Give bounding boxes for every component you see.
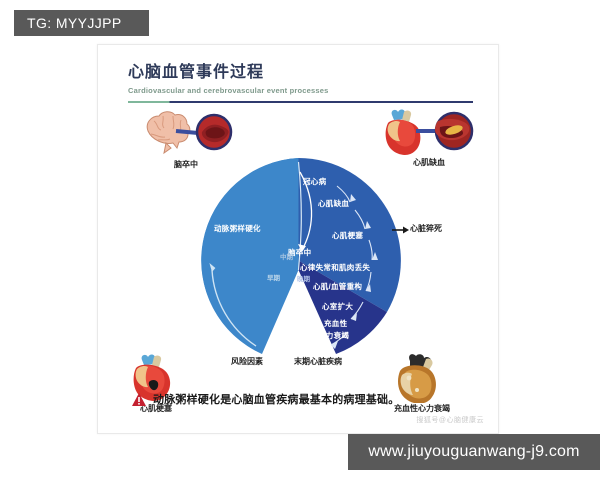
wheel-label-ischemia: 心肌缺血	[318, 198, 349, 209]
infographic-card: 心脑血管事件过程 Cardiovascular and cerebrovascu…	[97, 44, 499, 434]
organ-heart-failure: 充血性心力衰竭	[386, 351, 490, 415]
wheel-label-arrhythmia: 心律失常和肌肉丢失	[300, 262, 370, 273]
event-process-wheel: 动脉粥样硬化 冠心病 心肌缺血 心肌梗塞 脑卒中 心律失常和肌肉丢失 心肌/血管…	[196, 158, 401, 363]
card-heading: 心脑血管事件过程 Cardiovascular and cerebrovascu…	[128, 63, 473, 103]
outer-label-risk-factors: 风险因素	[231, 356, 263, 367]
page-subtitle: Cardiovascular and cerebrovascular event…	[128, 86, 473, 95]
wheel-label-atherosclerosis: 动脉粥样硬化	[214, 223, 261, 234]
tg-watermark-badge: TG: MYYJJPP	[14, 10, 149, 36]
url-watermark-badge: www.jiuyouguanwang-j9.com	[348, 434, 600, 470]
stage-label-late: 晚期	[297, 277, 309, 284]
heart-artery-icon	[376, 107, 482, 159]
wheel-label-chd: 冠心病	[303, 176, 326, 187]
outer-label-end-stage: 末期心脏疾病	[294, 356, 342, 367]
page-title: 心脑血管事件过程	[128, 63, 473, 82]
stage-label-early: 早期	[267, 276, 279, 283]
source-watermark: 搜狐号@心脑健康云	[416, 415, 484, 425]
wheel-label-remodeling: 心肌/血管重构	[313, 281, 362, 292]
stage-label-middle: 中期	[280, 255, 292, 262]
key-message-text: 动脉粥样硬化是心脑血管疾病最基本的病理基础。	[153, 391, 399, 407]
outer-label-sudden-death: 心脏猝死	[410, 223, 442, 234]
wheel-label-ventricular-dilation: 心室扩大	[322, 301, 353, 312]
wheel-graphic	[196, 158, 401, 363]
key-message-banner: 动脉粥样硬化是心脑血管疾病最基本的病理基础。	[132, 391, 399, 407]
wheel-label-infarction: 心肌梗塞	[332, 230, 363, 241]
wheel-label-chf-line2: 心力衰竭	[318, 330, 349, 341]
diagram-stage: 脑卒中 心肌缺血	[98, 103, 500, 433]
warning-triangle-icon	[132, 393, 146, 406]
tg-badge-label: TG: MYYJJPP	[27, 15, 122, 31]
wheel-label-chf-line1: 充血性	[324, 318, 347, 329]
url-badge-label: www.jiuyouguanwang-j9.com	[368, 443, 579, 461]
brain-artery-icon	[136, 109, 236, 159]
sudden-death-arrow-icon	[392, 226, 410, 234]
